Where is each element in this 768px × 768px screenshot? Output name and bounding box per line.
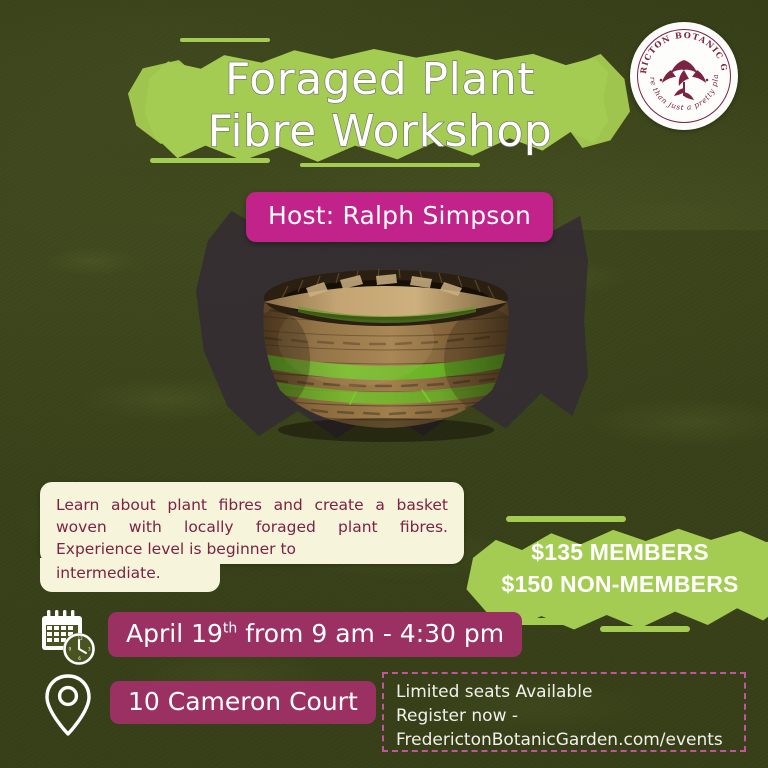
pricing-brush-flick-3 [506,516,626,522]
pricing-text: $135 MEMBERS $150 NON-MEMBERS [470,536,768,600]
date-ordinal: th [223,621,237,637]
registration-info: Limited seats Available Register now - F… [382,672,746,752]
pricing-brush-flick-2 [600,626,690,632]
woven-basket-illustration [236,240,536,445]
register-line-1: Limited seats Available [396,680,732,704]
poster-title: Foraged Plant Fibre Workshop [120,46,640,166]
svg-text:9: 9 [69,647,72,652]
date-suffix: from 9 am - 4:30 pm [237,619,504,648]
event-location: 10 Cameron Court [110,681,376,724]
basket-image [236,240,536,445]
price-non-members: $150 NON-MEMBERS [470,568,768,600]
svg-text:12: 12 [78,636,84,641]
register-line-2: Register now - [396,704,732,728]
title-brush-flick-3 [180,38,270,42]
event-poster: Foraged Plant Fibre Workshop FREDERICTON… [0,0,768,768]
organization-logo: FREDERICTON BOTANIC GARDEN More than jus… [630,22,738,130]
description-tail: intermediate. [40,558,220,592]
price-members: $135 MEMBERS [470,536,768,568]
title-line-2: Fibre Workshop [208,107,553,157]
flower-icon [660,60,709,100]
description-box: Learn about plant fibres and create a ba… [40,482,464,564]
date-prefix: April 19 [126,619,223,648]
calendar-clock-icon: 123 69 [38,608,100,668]
title-line-1: Foraged Plant [225,55,535,105]
host-banner: Host: Ralph Simpson [246,192,553,242]
register-url[interactable]: FrederictonBotanicGarden.com/events [396,728,732,752]
event-date-time: April 19th from 9 am - 4:30 pm [108,612,522,657]
map-pin-icon [40,672,96,738]
logo-artwork: FREDERICTON BOTANIC GARDEN More than jus… [630,22,738,130]
